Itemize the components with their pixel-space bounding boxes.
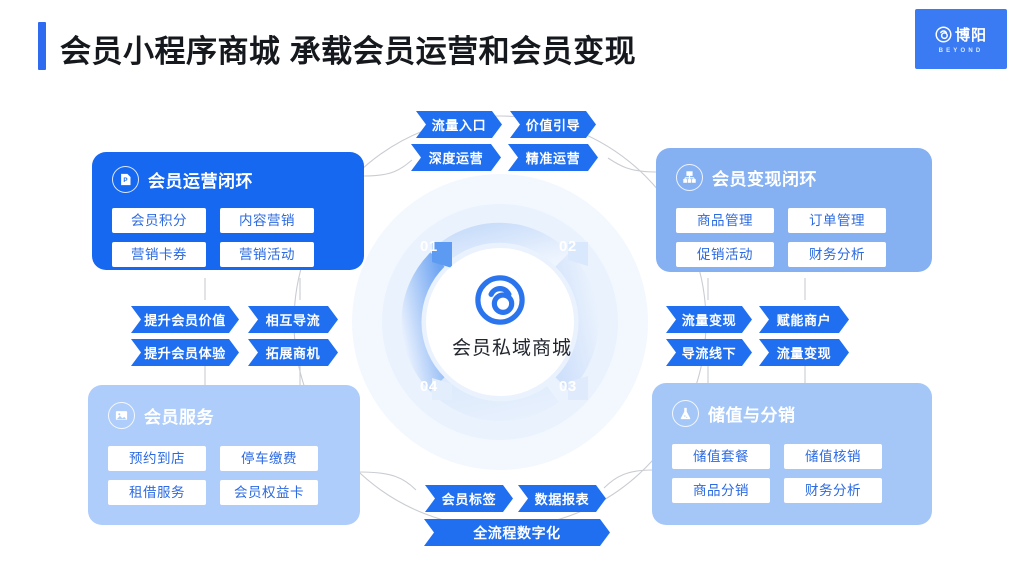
card-member-monetization-loop[interactable]: 会员变现闭环 商品管理 订单管理 促销活动 财务分析 — [656, 148, 932, 272]
card-item-list: 预约到店 停车缴费 租借服务 会员权益卡 — [108, 446, 342, 505]
document-p-icon: P — [112, 166, 139, 193]
image-icon — [108, 402, 135, 429]
card-item[interactable]: 预约到店 — [108, 446, 206, 471]
card-item-list: 商品管理 订单管理 促销活动 财务分析 — [676, 208, 914, 267]
card-item[interactable]: 停车缴费 — [220, 446, 318, 471]
tag-left-1[interactable]: 提升会员价值 — [131, 306, 239, 333]
tag-top-4[interactable]: 精准运营 — [508, 144, 598, 171]
tag-bottom-1[interactable]: 会员标签 — [425, 485, 513, 512]
card-header: 会员服务 — [108, 402, 342, 429]
slide-canvas: 会员小程序商城 承载会员运营和会员变现 博阳 BEYOND — [0, 0, 1024, 576]
card-title: 储值与分销 — [708, 401, 796, 426]
card-item[interactable]: 财务分析 — [788, 242, 886, 267]
tag-right-3[interactable]: 导流线下 — [666, 339, 752, 366]
tag-right-1[interactable]: 流量变现 — [666, 306, 752, 333]
card-header: 储值与分销 — [672, 400, 914, 427]
card-item[interactable]: 商品管理 — [676, 208, 774, 233]
card-item[interactable]: 会员权益卡 — [220, 480, 318, 505]
card-item[interactable]: 储值套餐 — [672, 444, 770, 469]
svg-text:P: P — [123, 177, 127, 184]
tag-top-1[interactable]: 流量入口 — [416, 111, 502, 138]
card-item[interactable]: 储值核销 — [784, 444, 882, 469]
card-member-service[interactable]: 会员服务 预约到店 停车缴费 租借服务 会员权益卡 — [88, 385, 360, 525]
card-item[interactable]: 商品分销 — [672, 478, 770, 503]
card-title: 会员运营闭环 — [148, 167, 253, 192]
card-item[interactable]: 会员积分 — [112, 208, 206, 233]
card-title: 会员服务 — [144, 403, 214, 428]
tag-left-2[interactable]: 相互导流 — [248, 306, 338, 333]
card-item[interactable]: 促销活动 — [676, 242, 774, 267]
card-stored-value-distribution[interactable]: 储值与分销 储值套餐 储值核销 商品分销 财务分析 — [652, 383, 932, 525]
ring-number-01: 01 — [420, 238, 438, 255]
tag-bottom-2[interactable]: 数据报表 — [518, 485, 606, 512]
card-item[interactable]: 营销卡券 — [112, 242, 206, 267]
card-item[interactable]: 租借服务 — [108, 480, 206, 505]
card-member-operation-loop[interactable]: P 会员运营闭环 会员积分 内容营销 营销卡券 营销活动 — [92, 152, 364, 270]
card-header: P 会员运营闭环 — [112, 166, 346, 193]
tag-left-4[interactable]: 拓展商机 — [248, 339, 338, 366]
center-beyond-monogram-icon — [474, 274, 526, 326]
tag-right-4[interactable]: 流量变现 — [759, 339, 849, 366]
card-item[interactable]: 营销活动 — [220, 242, 314, 267]
tag-right-2[interactable]: 赋能商户 — [759, 306, 849, 333]
card-item[interactable]: 订单管理 — [788, 208, 886, 233]
card-item[interactable]: 内容营销 — [220, 208, 314, 233]
ring-number-02: 02 — [559, 238, 577, 255]
card-item-list: 会员积分 内容营销 营销卡券 营销活动 — [112, 208, 346, 267]
org-chart-icon — [676, 164, 703, 191]
tag-top-3[interactable]: 深度运营 — [411, 144, 501, 171]
tag-left-3[interactable]: 提升会员体验 — [131, 339, 239, 366]
card-item[interactable]: 财务分析 — [784, 478, 882, 503]
tag-bottom-3[interactable]: 全流程数字化 — [424, 519, 610, 546]
ring-number-04: 04 — [420, 378, 438, 395]
tag-top-2[interactable]: 价值引导 — [510, 111, 596, 138]
card-title: 会员变现闭环 — [712, 165, 817, 190]
ring-number-03: 03 — [559, 378, 577, 395]
card-header: 会员变现闭环 — [676, 164, 914, 191]
card-item-list: 储值套餐 储值核销 商品分销 财务分析 — [672, 444, 914, 503]
flask-icon — [672, 400, 699, 427]
